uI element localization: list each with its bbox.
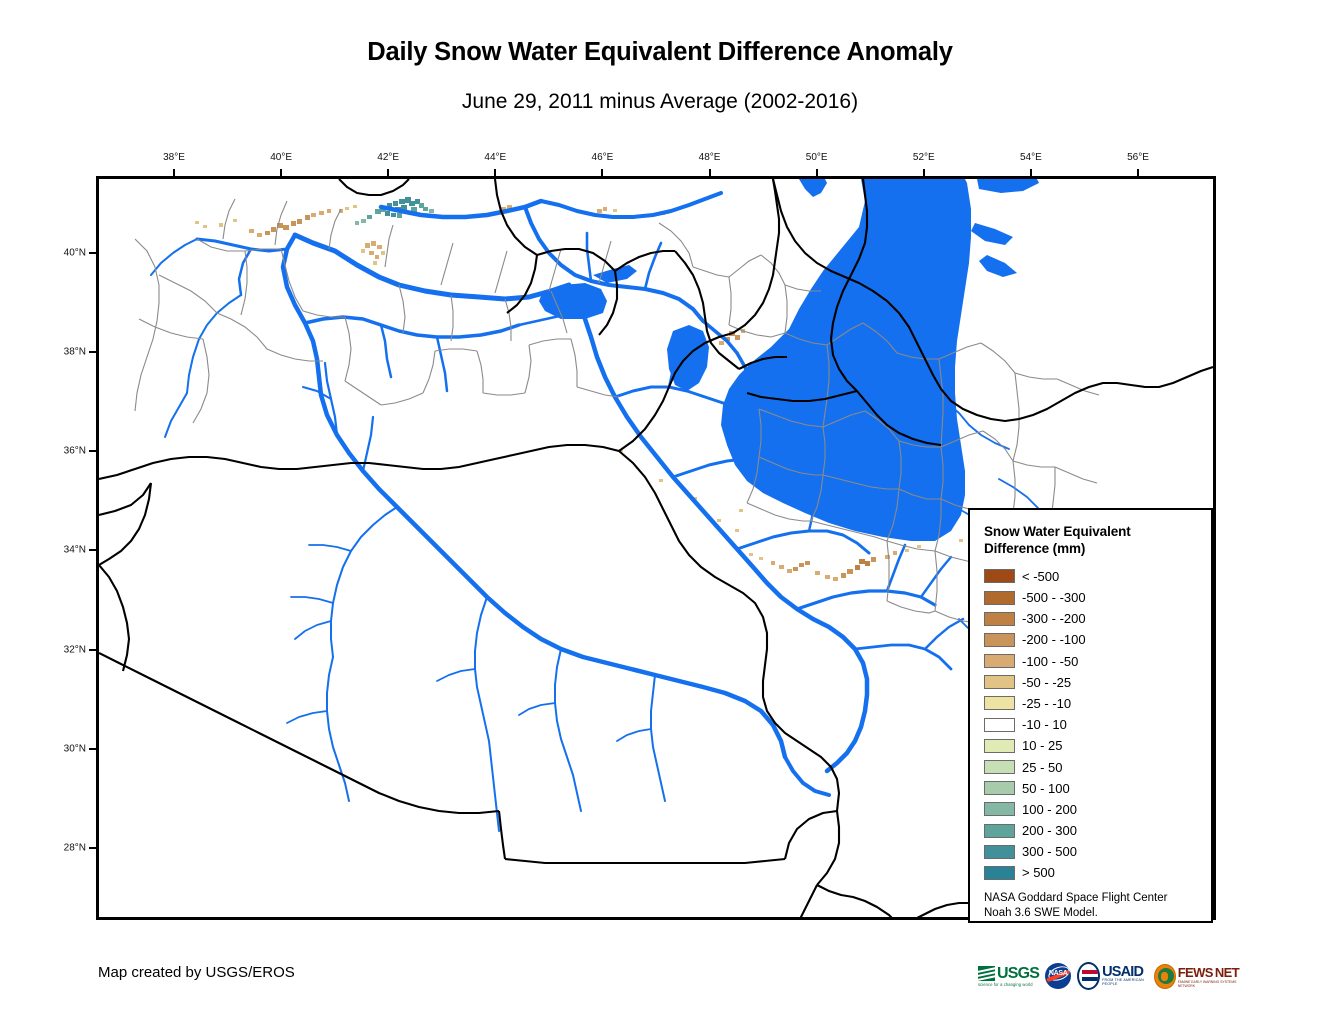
- map-credit: Map created by USGS/EROS: [98, 964, 295, 981]
- longitude-tick: [1030, 169, 1032, 176]
- longitude-label: 44°E: [484, 152, 506, 163]
- latitude-label: 40°N: [48, 248, 86, 259]
- legend-label: 25 - 50: [1022, 761, 1062, 774]
- fews-tagline: FAMINE EARLY WARNING SYSTEMS NETWORK: [1178, 980, 1243, 988]
- latitude-label: 32°N: [48, 644, 86, 655]
- legend-label: < -500: [1022, 570, 1059, 583]
- page-subtitle: June 29, 2011 minus Average (2002-2016): [0, 91, 1320, 112]
- latitude-tick: [89, 252, 96, 254]
- longitude-tick: [816, 169, 818, 176]
- legend-swatch: [984, 654, 1015, 668]
- nasa-wordmark: NASA: [1045, 970, 1071, 977]
- longitude-tick: [280, 169, 282, 176]
- longitude-label: 46°E: [592, 152, 614, 163]
- longitude-label: 52°E: [913, 152, 935, 163]
- longitude-label: 48°E: [699, 152, 721, 163]
- latitude-label: 30°N: [48, 743, 86, 754]
- legend-swatch: [984, 781, 1015, 795]
- usaid-seal-icon: [1077, 962, 1100, 990]
- title-block: Daily Snow Water Equivalent Difference A…: [0, 0, 1320, 112]
- legend-row: 10 - 25: [984, 735, 1199, 756]
- longitude-tick: [494, 169, 496, 176]
- legend-row: 100 - 200: [984, 799, 1199, 820]
- fews-net-logo: FEWS NET FAMINE EARLY WARNING SYSTEMS NE…: [1154, 959, 1242, 993]
- legend-swatch: [984, 569, 1015, 583]
- usgs-tagline: science for a changing world: [978, 982, 1039, 987]
- legend-row: 300 - 500: [984, 841, 1199, 862]
- legend-label: -50 - -25: [1022, 676, 1071, 689]
- latitude-label: 36°N: [48, 446, 86, 457]
- legend-row: -200 - -100: [984, 629, 1199, 650]
- usaid-wordmark: USAID: [1102, 966, 1148, 978]
- legend-label: 200 - 300: [1022, 824, 1077, 837]
- nasa-meatball-icon: NASA: [1045, 963, 1071, 989]
- legend-swatch: [984, 591, 1015, 605]
- legend-row: > 500: [984, 862, 1199, 883]
- fews-globe-icon: [1154, 964, 1175, 989]
- longitude-tick: [173, 169, 175, 176]
- page-title: Daily Snow Water Equivalent Difference A…: [0, 40, 1320, 66]
- usgs-logo: USGS science for a changing world: [978, 959, 1039, 993]
- nasa-logo: NASA: [1045, 959, 1071, 993]
- legend-swatch: [984, 845, 1015, 859]
- latitude-tick: [89, 649, 96, 651]
- legend-label: 50 - 100: [1022, 782, 1070, 795]
- usaid-tagline: FROM THE AMERICAN PEOPLE: [1102, 978, 1148, 986]
- logo-bar: USGS science for a changing world NASA U…: [978, 956, 1210, 996]
- legend-swatch: [984, 760, 1015, 774]
- fews-wordmark: FEWS: [1178, 967, 1213, 978]
- longitude-label: 54°E: [1020, 152, 1042, 163]
- legend-label: -500 - -300: [1022, 591, 1086, 604]
- map-legend: Snow Water Equivalent Difference (mm) < …: [968, 508, 1213, 923]
- legend-label: -300 - -200: [1022, 612, 1086, 625]
- legend-label: 10 - 25: [1022, 739, 1062, 752]
- legend-label: 300 - 500: [1022, 845, 1077, 858]
- legend-swatch: [984, 696, 1015, 710]
- legend-row: 200 - 300: [984, 820, 1199, 841]
- legend-label: -10 - 10: [1022, 718, 1067, 731]
- longitude-tick: [1137, 169, 1139, 176]
- latitude-tick: [89, 351, 96, 353]
- legend-title: Snow Water Equivalent Difference (mm): [984, 524, 1199, 558]
- latitude-label: 34°N: [48, 545, 86, 556]
- legend-row: -50 - -25: [984, 672, 1199, 693]
- longitude-label: 42°E: [377, 152, 399, 163]
- latitude-label: 38°N: [48, 347, 86, 358]
- legend-row: 25 - 50: [984, 756, 1199, 777]
- usgs-wordmark: USGS: [997, 967, 1039, 981]
- legend-row: -100 - -50: [984, 651, 1199, 672]
- usgs-mark-icon: [978, 966, 995, 981]
- legend-label: 100 - 200: [1022, 803, 1077, 816]
- legend-row: -10 - 10: [984, 714, 1199, 735]
- latitude-tick: [89, 748, 96, 750]
- legend-swatch: [984, 675, 1015, 689]
- legend-swatch: [984, 612, 1015, 626]
- longitude-label: 50°E: [806, 152, 828, 163]
- longitude-tick: [387, 169, 389, 176]
- longitude-tick: [709, 169, 711, 176]
- longitude-label: 40°E: [270, 152, 292, 163]
- longitude-label: 56°E: [1127, 152, 1149, 163]
- legend-swatch: [984, 633, 1015, 647]
- legend-swatch: [984, 824, 1015, 838]
- longitude-tick: [923, 169, 925, 176]
- legend-label: -200 - -100: [1022, 633, 1086, 646]
- legend-row: -500 - -300: [984, 587, 1199, 608]
- longitude-tick: [601, 169, 603, 176]
- legend-label: -100 - -50: [1022, 655, 1078, 668]
- legend-row: -300 - -200: [984, 608, 1199, 629]
- longitude-label: 38°E: [163, 152, 185, 163]
- legend-swatch: [984, 718, 1015, 732]
- legend-swatch: [984, 866, 1015, 880]
- legend-swatch: [984, 739, 1015, 753]
- latitude-tick: [89, 450, 96, 452]
- latitude-tick: [89, 847, 96, 849]
- latitude-tick: [89, 549, 96, 551]
- legend-label: > 500: [1022, 866, 1055, 879]
- fews-net-wordmark: NET: [1215, 965, 1239, 980]
- legend-row: < -500: [984, 566, 1199, 587]
- legend-source-note: NASA Goddard Space Flight Center Noah 3.…: [984, 891, 1199, 922]
- legend-row: -25 - -10: [984, 693, 1199, 714]
- usaid-logo: USAID FROM THE AMERICAN PEOPLE: [1077, 959, 1148, 993]
- legend-label: -25 - -10: [1022, 697, 1071, 710]
- latitude-label: 28°N: [48, 842, 86, 853]
- legend-items: < -500-500 - -300-300 - -200-200 - -100-…: [984, 566, 1199, 884]
- legend-swatch: [984, 802, 1015, 816]
- legend-row: 50 - 100: [984, 778, 1199, 799]
